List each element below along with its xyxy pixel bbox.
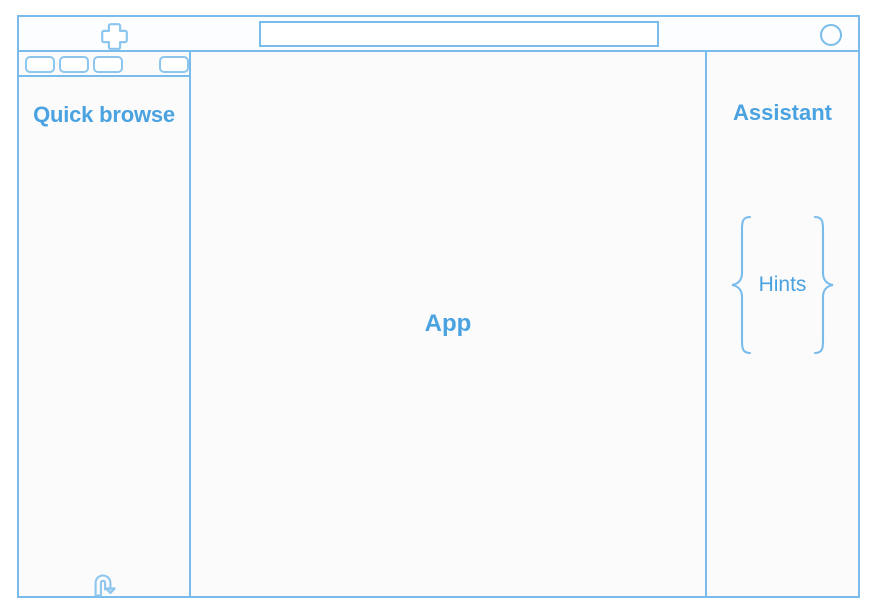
wireframe-window: Quick browse App Assistant Hints [17,15,860,598]
assistant-panel: Assistant Hints [705,50,860,598]
app-label: App [191,52,705,596]
tab-chip-1[interactable] [25,56,55,73]
workspace-body: Quick browse App Assistant Hints [17,50,860,598]
sidebar-tab-strip [19,52,189,77]
browser-chrome-bar [17,15,860,52]
assistant-heading: Assistant [707,100,858,126]
hints-block: Hints [707,212,858,357]
hints-label: Hints [755,273,811,297]
tab-chip-2[interactable] [59,56,89,73]
app-main-panel: App [189,50,707,598]
circle-avatar-icon[interactable] [820,24,842,46]
u-turn-arrow-icon[interactable] [89,570,121,598]
tab-chip-3[interactable] [93,56,123,73]
right-brace-icon [810,214,836,356]
left-brace-icon [729,214,755,356]
quick-browse-sidebar: Quick browse [17,50,191,598]
tab-chip-4[interactable] [159,56,189,73]
quick-browse-heading: Quick browse [19,100,189,130]
address-search-bar[interactable] [259,21,659,47]
plus-icon[interactable] [101,22,128,49]
